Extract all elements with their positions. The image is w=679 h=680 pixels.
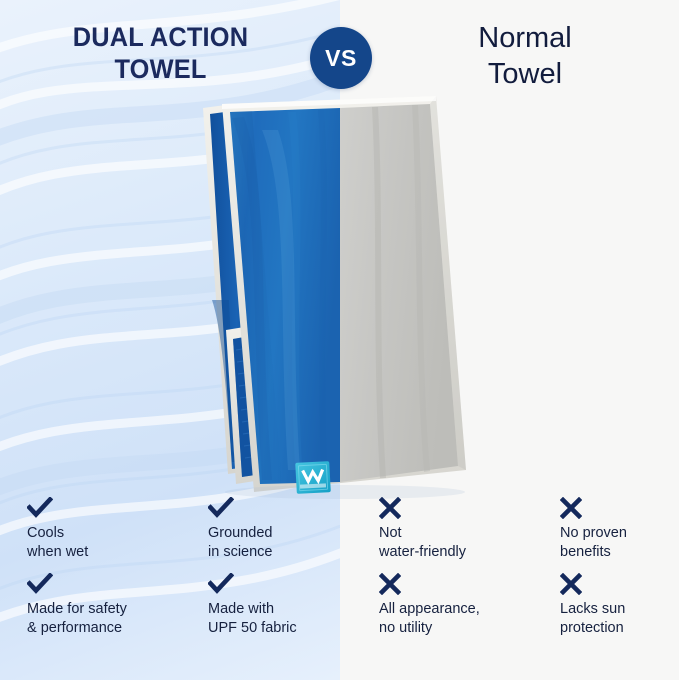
benefit-label: Made with UPF 50 fabric bbox=[208, 600, 358, 637]
benefit-item: Made for safety & performance bbox=[27, 573, 177, 637]
brand-tag bbox=[295, 461, 331, 494]
cross-icon bbox=[560, 497, 679, 523]
cross-icon bbox=[379, 573, 529, 599]
cross-icon bbox=[379, 497, 529, 523]
check-icon bbox=[27, 573, 177, 599]
drawbacks-column-1: Not water-friendly All appearance, no ut… bbox=[379, 497, 529, 649]
benefit-label: Made for safety & performance bbox=[27, 600, 177, 637]
drawback-item: All appearance, no utility bbox=[379, 573, 529, 637]
drawbacks-column-2: No proven benefits Lacks sun protection bbox=[560, 497, 679, 649]
drawback-item: Not water-friendly bbox=[379, 497, 529, 561]
drawback-item: Lacks sun protection bbox=[560, 573, 679, 637]
drawback-label: No proven benefits bbox=[560, 524, 679, 561]
features-section: Cools when wet Made for safety & perform… bbox=[0, 497, 679, 680]
benefit-item: Cools when wet bbox=[27, 497, 177, 561]
cross-icon bbox=[560, 573, 679, 599]
benefit-label: Cools when wet bbox=[27, 524, 177, 561]
drawback-label: Not water-friendly bbox=[379, 524, 529, 561]
vs-label: VS bbox=[325, 45, 357, 72]
check-icon bbox=[208, 497, 358, 523]
drawback-label: Lacks sun protection bbox=[560, 600, 679, 637]
benefits-column-2: Grounded in science Made with UPF 50 fab… bbox=[208, 497, 358, 649]
benefit-item: Grounded in science bbox=[208, 497, 358, 561]
vs-badge: VS bbox=[310, 27, 372, 89]
check-icon bbox=[27, 497, 177, 523]
benefit-item: Made with UPF 50 fabric bbox=[208, 573, 358, 637]
drawback-item: No proven benefits bbox=[560, 497, 679, 561]
comparison-infographic: DUAL ACTION TOWEL VS Normal Towel bbox=[0, 0, 679, 680]
benefits-column-1: Cools when wet Made for safety & perform… bbox=[27, 497, 177, 649]
check-icon bbox=[208, 573, 358, 599]
drawback-label: All appearance, no utility bbox=[379, 600, 529, 637]
benefit-label: Grounded in science bbox=[208, 524, 358, 561]
